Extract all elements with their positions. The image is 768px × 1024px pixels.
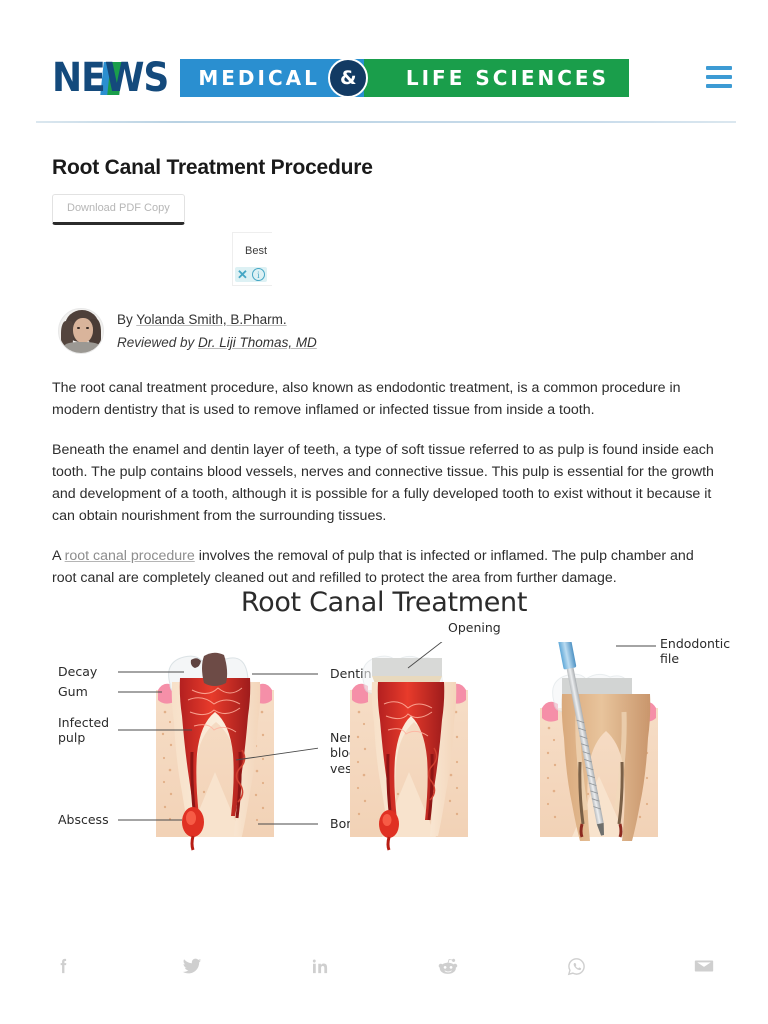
article-byline: By Yolanda Smith, B.Pharm. Reviewed by D… <box>58 308 317 354</box>
figure-panel-opening-made: Opening <box>330 642 530 932</box>
label-gum: Gum <box>58 684 88 699</box>
logo-news-wordmark: NEWS <box>52 58 168 98</box>
share-whatsapp-icon[interactable] <box>512 956 640 977</box>
paragraph-3-before: A <box>52 548 65 564</box>
social-share-bar <box>0 946 768 986</box>
label-opening: Opening <box>448 620 501 635</box>
byline-by-prefix: By <box>117 312 136 327</box>
ad-close-icon[interactable]: ✕ <box>237 268 248 281</box>
advertisement-slot[interactable]: Best ✕ i <box>232 232 272 286</box>
site-header: NEWS MEDICAL & LIFE SCIENCES <box>0 0 768 122</box>
paragraph-3: A root canal procedure involves the remo… <box>52 546 722 589</box>
share-reddit-icon[interactable] <box>384 956 512 977</box>
tooth-diagram-cleaned <box>520 642 690 932</box>
hamburger-bar-2 <box>706 75 732 79</box>
share-linkedin-icon[interactable] <box>256 956 384 976</box>
avatar-shoulders <box>64 342 100 353</box>
byline-reviewed-prefix: Reviewed by <box>117 335 198 350</box>
panel1-leader-lines <box>118 642 318 932</box>
site-logo[interactable]: NEWS MEDICAL & LIFE SCIENCES <box>52 55 629 101</box>
byline-text: By Yolanda Smith, B.Pharm. Reviewed by D… <box>117 308 317 354</box>
share-facebook-icon[interactable] <box>0 956 128 976</box>
byline-reviewer-line: Reviewed by Dr. Liji Thomas, MD <box>117 331 317 354</box>
figure-title: Root Canal Treatment <box>0 587 768 618</box>
logo-news-text: NEWS <box>52 55 168 101</box>
article-body: The root canal treatment procedure, also… <box>52 378 722 609</box>
author-link[interactable]: Yolanda Smith, B.Pharm. <box>136 312 286 327</box>
article-container: Root Canal Treatment Procedure Download … <box>0 122 768 225</box>
paragraph-2: Beneath the enamel and dentin layer of t… <box>52 440 722 527</box>
label-abscess: Abscess <box>58 812 109 827</box>
figure-panel-infected-tooth: Decay Gum Infected pulp Abscess Dentin N… <box>118 642 318 932</box>
figure-panels: Decay Gum Infected pulp Abscess Dentin N… <box>0 642 768 932</box>
page-title: Root Canal Treatment Procedure <box>52 156 768 180</box>
label-infected-pulp: Infected pulp <box>58 715 109 746</box>
share-email-icon[interactable] <box>640 955 768 977</box>
ad-label: Best <box>245 245 267 257</box>
ad-info-icon[interactable]: i <box>252 268 265 281</box>
byline-author-line: By Yolanda Smith, B.Pharm. <box>117 308 317 331</box>
label-decay: Decay <box>58 664 97 679</box>
paragraph-1: The root canal treatment procedure, also… <box>52 378 722 421</box>
download-pdf-button[interactable]: Download PDF Copy <box>52 194 185 225</box>
reviewer-link[interactable]: Dr. Liji Thomas, MD <box>198 335 317 350</box>
hamburger-bar-3 <box>706 84 732 88</box>
ad-controls: ✕ i <box>235 267 267 282</box>
figure-panel-tissue-removed: Endodontic file <box>520 642 720 932</box>
logo-badges: MEDICAL & LIFE SCIENCES <box>180 59 629 97</box>
tooth-diagram-opening <box>330 642 500 932</box>
share-twitter-icon[interactable] <box>128 955 256 977</box>
logo-life-sciences-badge: LIFE SCIENCES <box>364 59 629 97</box>
hamburger-menu-icon[interactable] <box>706 66 732 88</box>
root-canal-figure: Root Canal Treatment <box>0 587 768 932</box>
hamburger-bar-1 <box>706 66 732 70</box>
page-root: NEWS MEDICAL & LIFE SCIENCES Root Canal … <box>0 0 768 1024</box>
root-canal-procedure-link[interactable]: root canal procedure <box>65 548 195 564</box>
label-endodontic-file: Endodontic file <box>660 636 730 667</box>
author-avatar <box>58 308 104 354</box>
